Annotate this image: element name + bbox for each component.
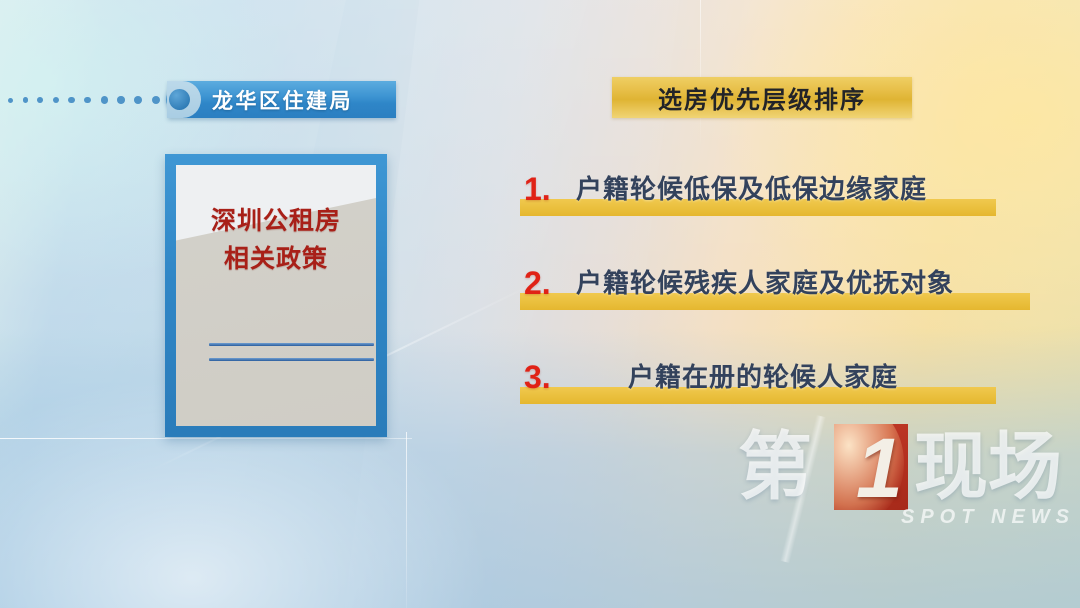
leader-dot-icon [117, 96, 124, 103]
leader-dot-icon [53, 97, 59, 103]
priority-list-item-number: 2. [524, 259, 551, 307]
priority-list-item-number: 3. [524, 353, 551, 401]
policy-document-rule-1 [209, 343, 374, 346]
priority-list-item: 3.户籍在册的轮候人家庭 [520, 353, 1060, 447]
policy-document-card: 深圳公租房 相关政策 [165, 154, 387, 437]
policy-document-title: 深圳公租房 相关政策 [176, 202, 376, 278]
leader-dot-icon [8, 98, 13, 103]
policy-document-title-line-2: 相关政策 [176, 240, 376, 278]
priority-list-item-text: 户籍轮候残疾人家庭及优抚对象 [576, 259, 954, 307]
priority-list-item-number: 1. [524, 165, 551, 213]
banner-circle-icon [169, 89, 190, 110]
leader-dot-icon [23, 97, 28, 102]
priority-ranking-list: 1.户籍轮候低保及低保边缘家庭2.户籍轮候残疾人家庭及优抚对象3.户籍在册的轮候… [520, 165, 1060, 447]
leader-dot-icon [101, 96, 108, 103]
leader-dot-icon [152, 96, 160, 104]
source-banner: 龙华区住建局 [168, 81, 396, 118]
priority-list-item-text: 户籍轮候低保及低保边缘家庭 [576, 165, 927, 213]
broadcast-graphic-screen: 龙华区住建局 深圳公租房 相关政策 选房优先层级排序 1.户籍轮候低保及低保边缘… [0, 0, 1080, 608]
policy-document-title-line-1: 深圳公租房 [176, 202, 376, 240]
leader-dot-icon [134, 96, 142, 104]
panel-heading-text: 选房优先层级排序 [612, 77, 912, 118]
policy-document-paper: 深圳公租房 相关政策 [176, 165, 376, 426]
source-banner-label: 龙华区住建局 [212, 81, 353, 118]
priority-list-item: 1.户籍轮候低保及低保边缘家庭 [520, 165, 1060, 259]
dotted-leader-line [8, 92, 178, 108]
priority-list-item-text: 户籍在册的轮候人家庭 [628, 353, 898, 401]
policy-document-rule-2 [209, 358, 374, 361]
banner-notch-shape [167, 81, 201, 118]
leader-dot-icon [68, 97, 74, 103]
leader-dot-icon [37, 97, 43, 103]
priority-list-item: 2.户籍轮候残疾人家庭及优抚对象 [520, 259, 1060, 353]
leader-dot-icon [84, 97, 91, 104]
panel-heading-band: 选房优先层级排序 [612, 77, 912, 118]
